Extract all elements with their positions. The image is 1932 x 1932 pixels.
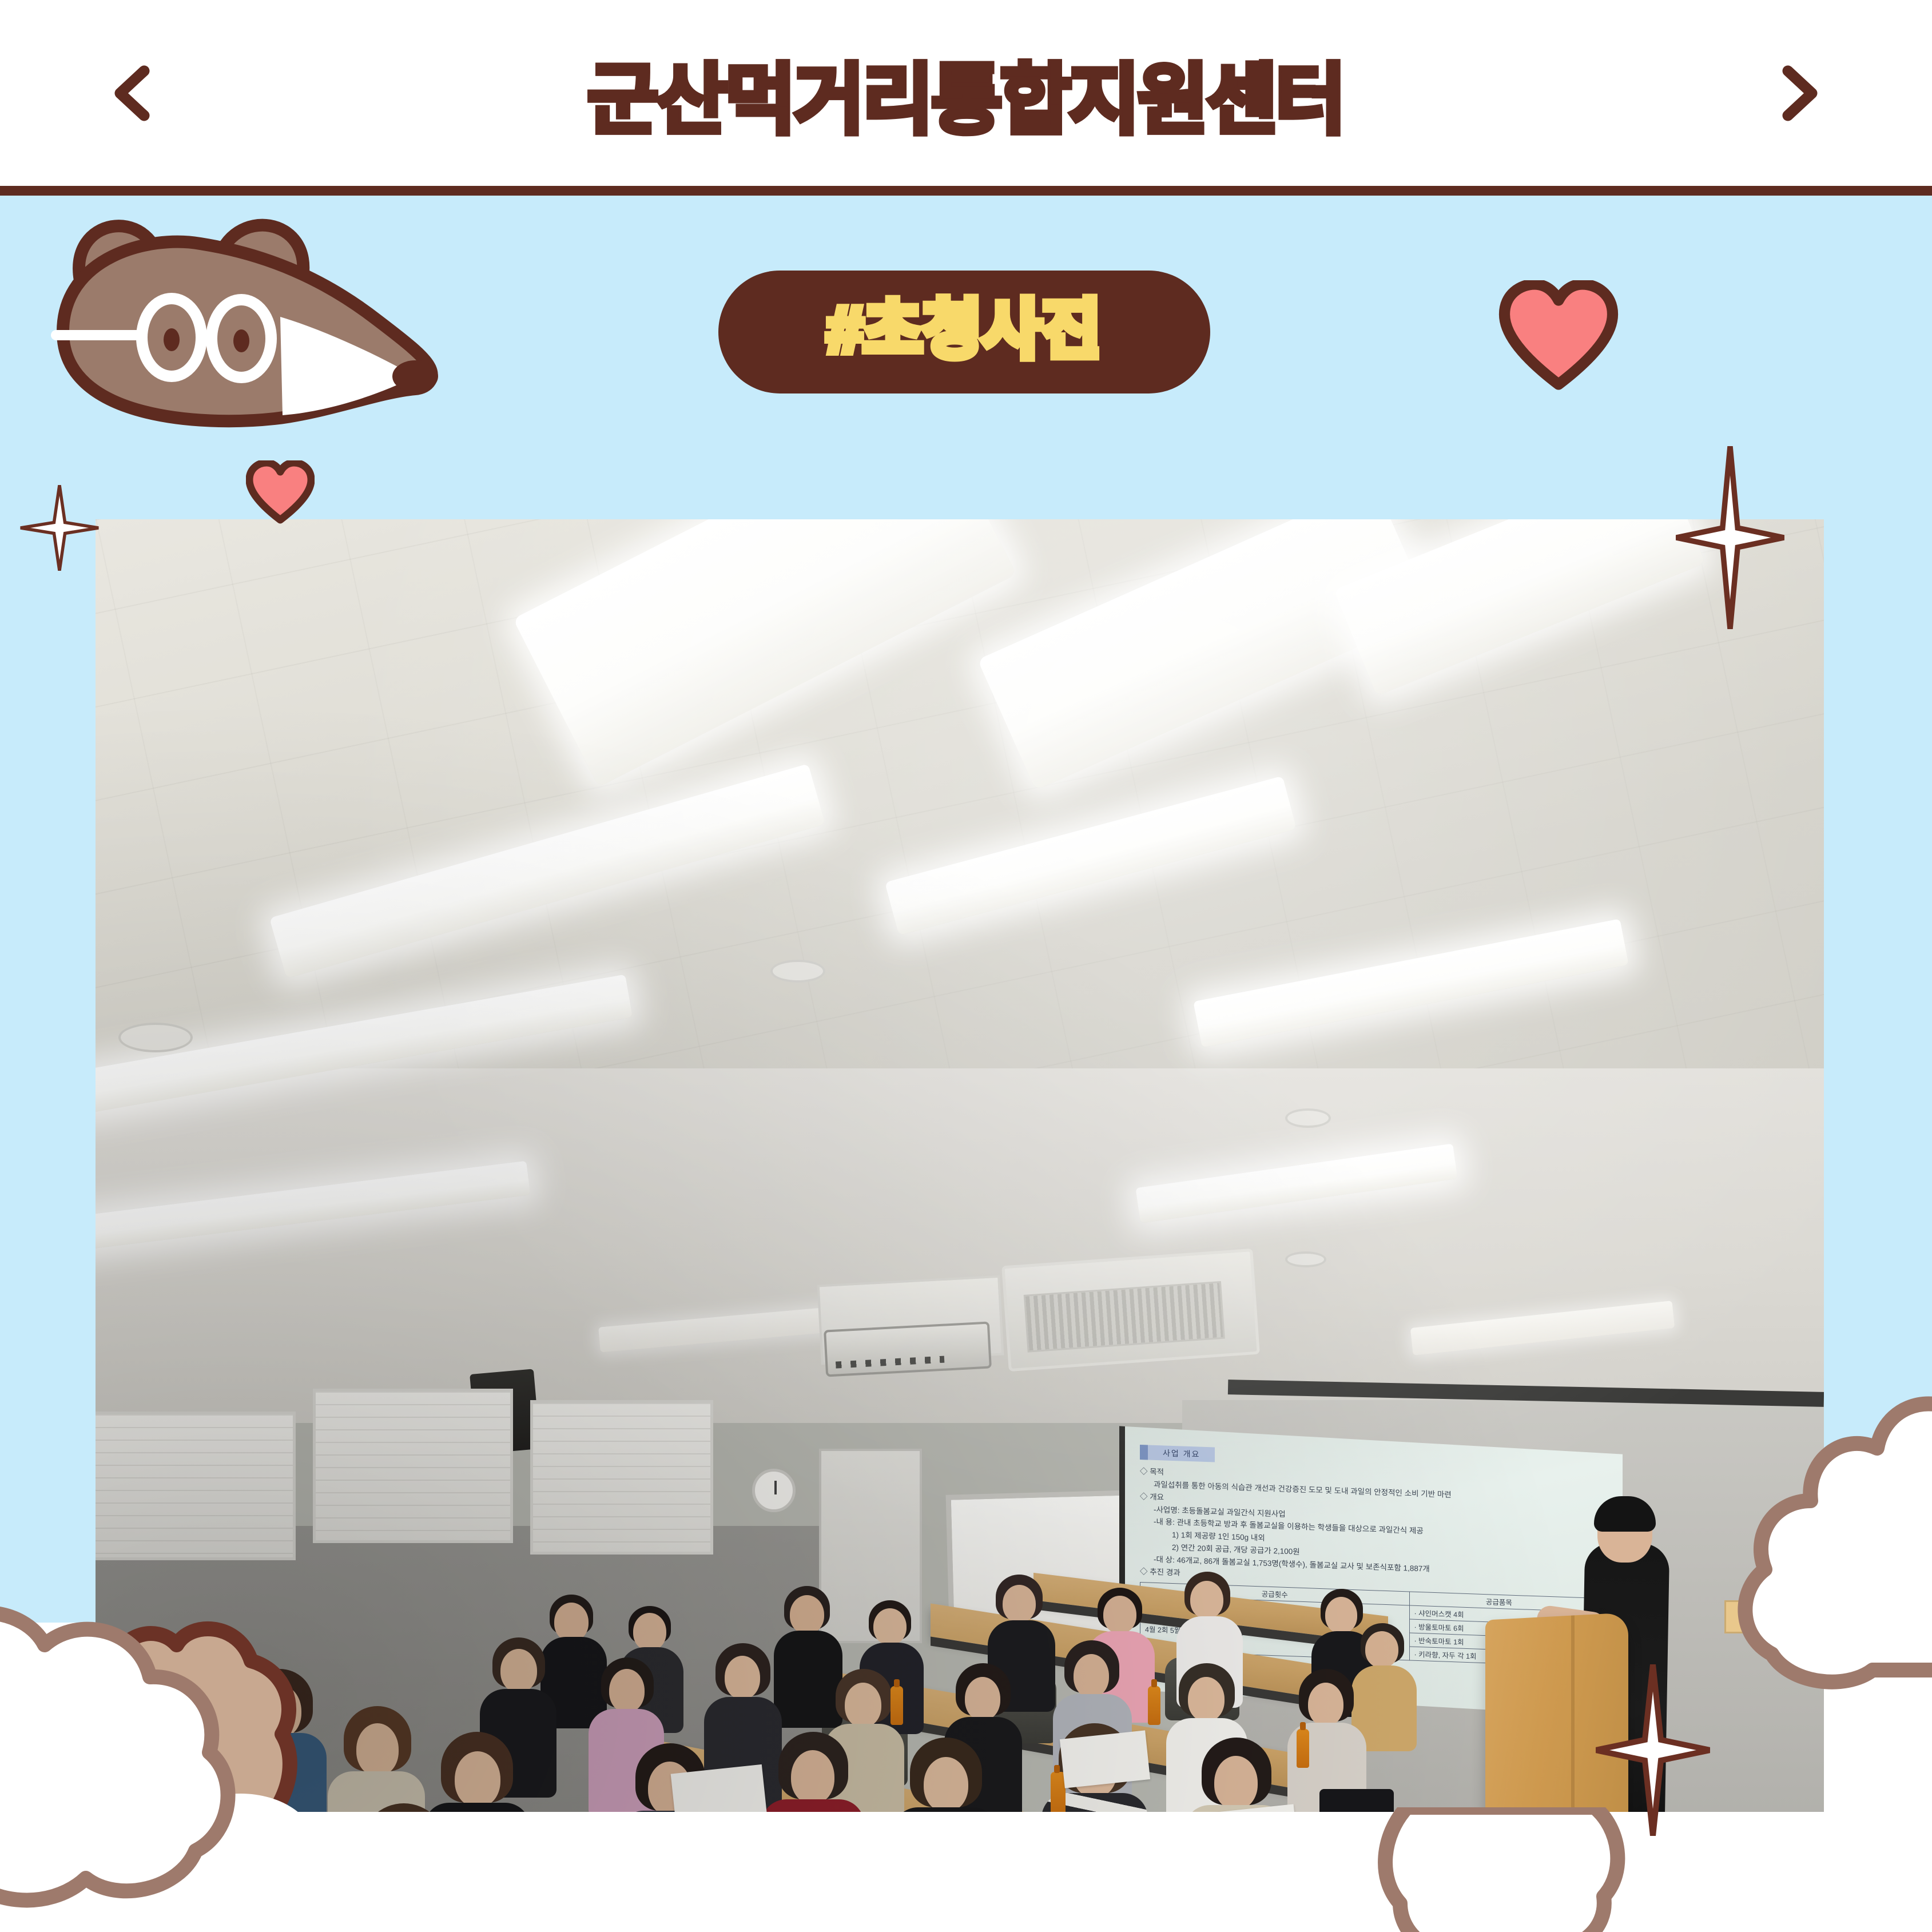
- promo-card: 군산먹거리통합지원센터 #초청사진: [0, 0, 1932, 1932]
- heart-icon: [1498, 280, 1619, 392]
- chevron-right-icon: [1768, 62, 1831, 125]
- card-header: 군산먹거리통합지원센터: [0, 0, 1932, 186]
- sparkle-icon: [1676, 446, 1784, 629]
- cloud-icon: [0, 1590, 246, 1932]
- header-divider: [0, 186, 1932, 196]
- hashtag-label: #초청사진: [827, 298, 1101, 367]
- handout-paper: [1060, 1730, 1150, 1788]
- nav-next-button[interactable]: [1768, 62, 1831, 125]
- drink-bottle: [1297, 1729, 1309, 1768]
- hashtag-badge[interactable]: #초청사진: [718, 271, 1210, 393]
- bear-with-glasses-icon: [29, 194, 452, 440]
- event-photo: 사업 개요 ◇ 목적 과일섭취를 통한 아동의 식습관 개선과 건강증진 도모 …: [96, 519, 1824, 1812]
- drink-bottle: [891, 1686, 903, 1725]
- cloud-icon: [1722, 1396, 1932, 1693]
- heart-icon: [246, 460, 315, 524]
- page-title: 군산먹거리통합지원센터: [0, 0, 1932, 186]
- sparkle-icon: [19, 485, 100, 571]
- screen-section-tag: 사업 개요: [1140, 1445, 1215, 1462]
- cloud-icon: [1361, 1807, 1681, 1932]
- drink-bottle: [1148, 1686, 1160, 1725]
